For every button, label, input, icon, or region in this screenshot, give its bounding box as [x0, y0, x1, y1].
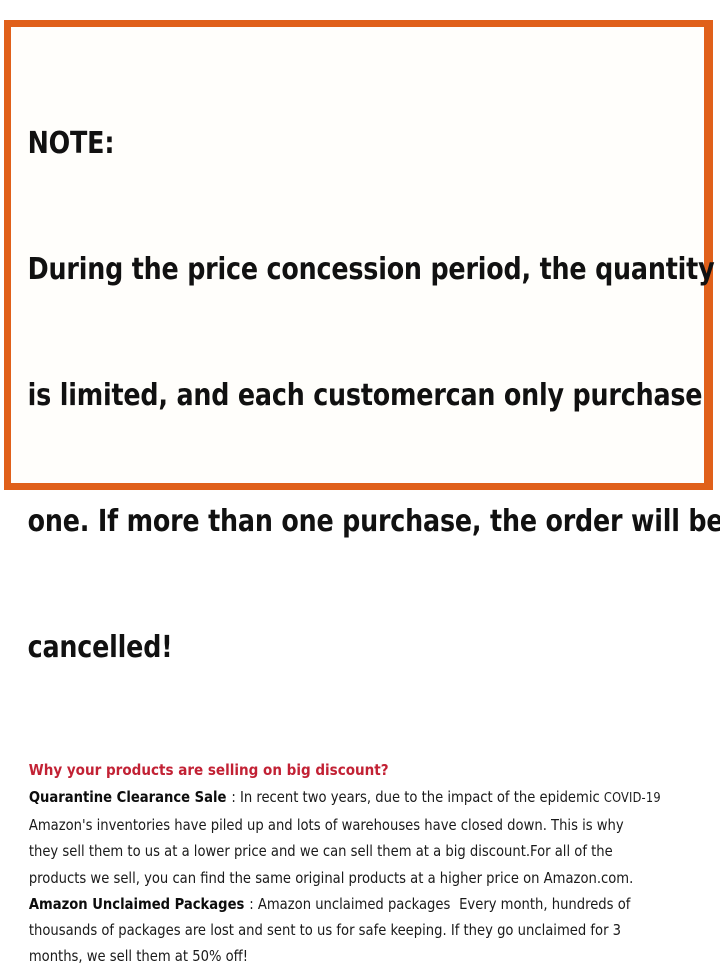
paragraph-lead: Amazon Unclaimed Packages — [29, 895, 245, 913]
note-body: Quarantine Clearance Sale: In recent two… — [22, 781, 685, 969]
headline-line: cancelled! — [28, 627, 662, 669]
paragraph-lead: Quarantine Clearance Sale — [29, 788, 227, 806]
body-line: they sell them to us at a lower price an… — [29, 838, 685, 864]
note-page: NOTE: During the price concession period… — [0, 0, 720, 514]
body-line: Quarantine Clearance Sale: In recent two… — [29, 784, 685, 812]
body-text: In recent two years, due to the impact o… — [240, 788, 604, 806]
body-text-smallcaps: COVID-19 — [604, 791, 661, 806]
body-text: Every month, hundreds of — [459, 895, 630, 913]
body-line: Amazon's inventories have piled up and l… — [29, 812, 685, 838]
paragraph-separator: : — [231, 788, 235, 806]
paragraph-separator: : — [249, 895, 253, 913]
headline-line: NOTE: — [28, 123, 662, 165]
body-line: months, we sell them at 50% off! — [29, 943, 685, 969]
note-headline: NOTE: During the price concession period… — [22, 39, 661, 753]
headline-line: During the price concession period, the … — [28, 249, 662, 291]
body-text: Amazon unclaimed packages — [258, 895, 450, 913]
body-line: Amazon Unclaimed Packages: Amazon unclai… — [29, 891, 685, 917]
note-content: NOTE: During the price concession period… — [11, 27, 704, 483]
body-line: thousands of packages are lost and sent … — [29, 917, 685, 943]
headline-line: one. If more than one purchase, the orde… — [28, 501, 662, 543]
note-box: NOTE: During the price concession period… — [4, 20, 713, 490]
body-line: products we sell, you can find the same … — [29, 865, 685, 891]
headline-line: is limited, and each customercan only pu… — [28, 375, 662, 417]
note-subheading: Why your products are selling on big dis… — [22, 753, 682, 781]
